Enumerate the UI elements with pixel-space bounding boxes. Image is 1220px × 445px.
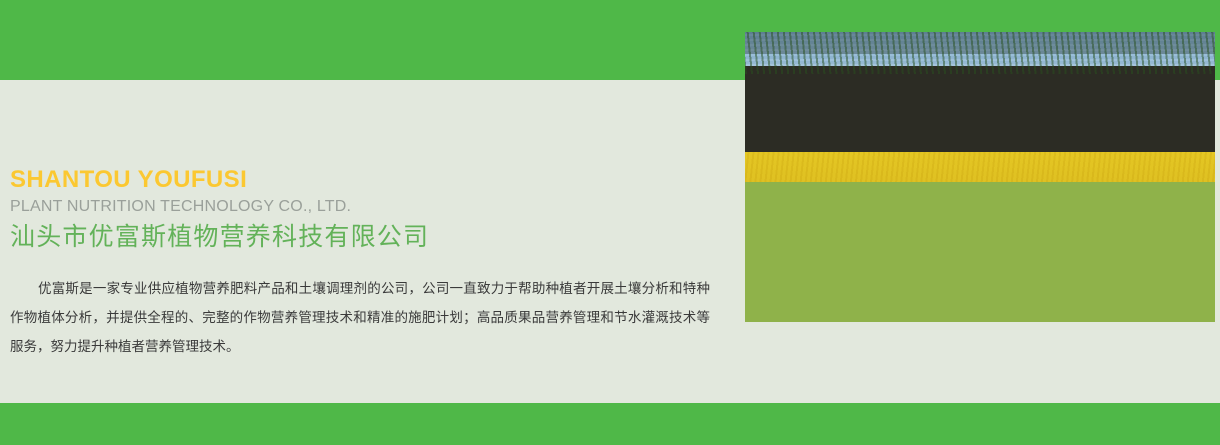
footer-green-band [0,403,1220,445]
company-introduction-paragraph: 优富斯是一家专业供应植物营养肥料产品和土壤调理剂的公司，公司一直致力于帮助种植者… [10,274,710,361]
photo-reeds [745,32,1215,74]
company-name-chinese: 汕头市优富斯植物营养科技有限公司 [10,220,710,254]
farm-photo [745,32,1215,322]
company-subtitle-english: PLANT NUTRITION TECHNOLOGY CO., LTD. [10,196,710,218]
company-name-english: SHANTOU YOUFUSI [10,166,710,194]
brand-block: SHANTOU YOUFUSI PLANT NUTRITION TECHNOLO… [10,166,710,254]
page-root: SHANTOU YOUFUSI PLANT NUTRITION TECHNOLO… [0,0,1220,445]
